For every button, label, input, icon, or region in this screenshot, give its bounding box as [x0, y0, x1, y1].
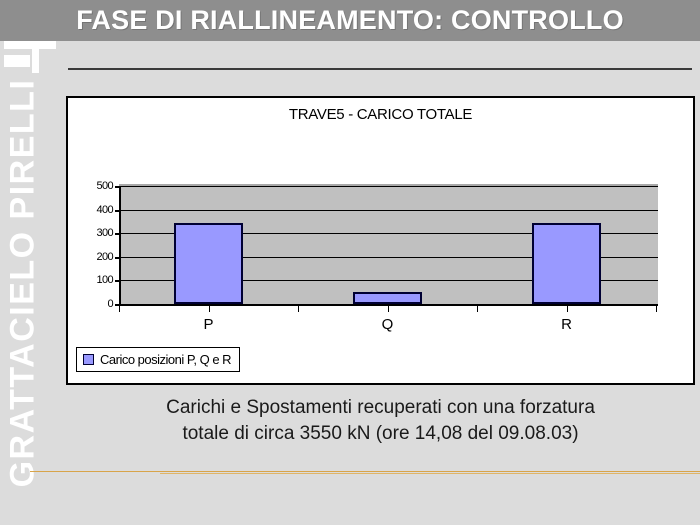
- y-axis-tick-label: 400: [79, 204, 113, 216]
- gridline: [121, 210, 658, 211]
- bar-p: [174, 223, 242, 304]
- header-divider: [68, 68, 692, 70]
- caption-line-2: totale di circa 3550 kN (ore 14,08 del 0…: [66, 421, 695, 447]
- caption-line-1: Carichi e Spostamenti recuperati con una…: [66, 395, 695, 421]
- y-axis-tick-mark: [115, 186, 119, 188]
- x-axis-tick-mark: [209, 306, 210, 312]
- legend-swatch-icon: [83, 354, 94, 365]
- x-axis-tick-label: P: [203, 316, 213, 333]
- x-axis-band-tick: [298, 306, 299, 312]
- footer-accent-rule-secondary: [160, 473, 700, 474]
- gridline: [121, 186, 658, 187]
- y-axis-tick-label: 500: [79, 180, 113, 192]
- sidebar-brand-label: GRATTACIELO PIRELLI: [4, 79, 43, 488]
- y-axis-tick-mark: [115, 257, 119, 259]
- y-axis-tick-mark: [115, 280, 119, 282]
- x-axis-band-tick: [656, 306, 657, 312]
- x-axis-tick-label: Q: [382, 316, 394, 333]
- footer-accent-rule: [30, 471, 700, 472]
- x-axis-origin-tick: [119, 306, 120, 312]
- y-axis-tick-label: 200: [79, 251, 113, 263]
- x-axis-tick-mark: [388, 306, 389, 312]
- x-axis-tick-label: R: [561, 316, 572, 333]
- bar-q: [353, 292, 421, 304]
- plot-wrapper: 0100200300400500 PQR: [68, 98, 693, 383]
- x-axis-tick-mark: [567, 306, 568, 312]
- y-axis-tick-label: 100: [79, 274, 113, 286]
- sidebar: GRATTACIELO PIRELLI: [0, 41, 46, 525]
- x-axis-band-tick: [477, 306, 478, 312]
- y-axis-tick-mark: [115, 210, 119, 212]
- y-axis-tick-label: 0: [79, 298, 113, 310]
- chart-container: TRAVE5 - CARICO TOTALE 0100200300400500 …: [66, 96, 695, 385]
- page-title: FASE DI RIALLINEAMENTO: CONTROLLO: [0, 0, 700, 41]
- slide-title-bar: FASE DI RIALLINEAMENTO: CONTROLLO: [0, 0, 700, 41]
- y-axis-tick-label: 300: [79, 227, 113, 239]
- chart-legend: Carico posizioni P, Q e R: [76, 347, 240, 372]
- legend-item-label: Carico posizioni P, Q e R: [100, 352, 231, 367]
- bar-r: [532, 223, 600, 304]
- slide-caption: Carichi e Spostamenti recuperati con una…: [66, 395, 695, 446]
- y-axis-tick-mark: [115, 233, 119, 235]
